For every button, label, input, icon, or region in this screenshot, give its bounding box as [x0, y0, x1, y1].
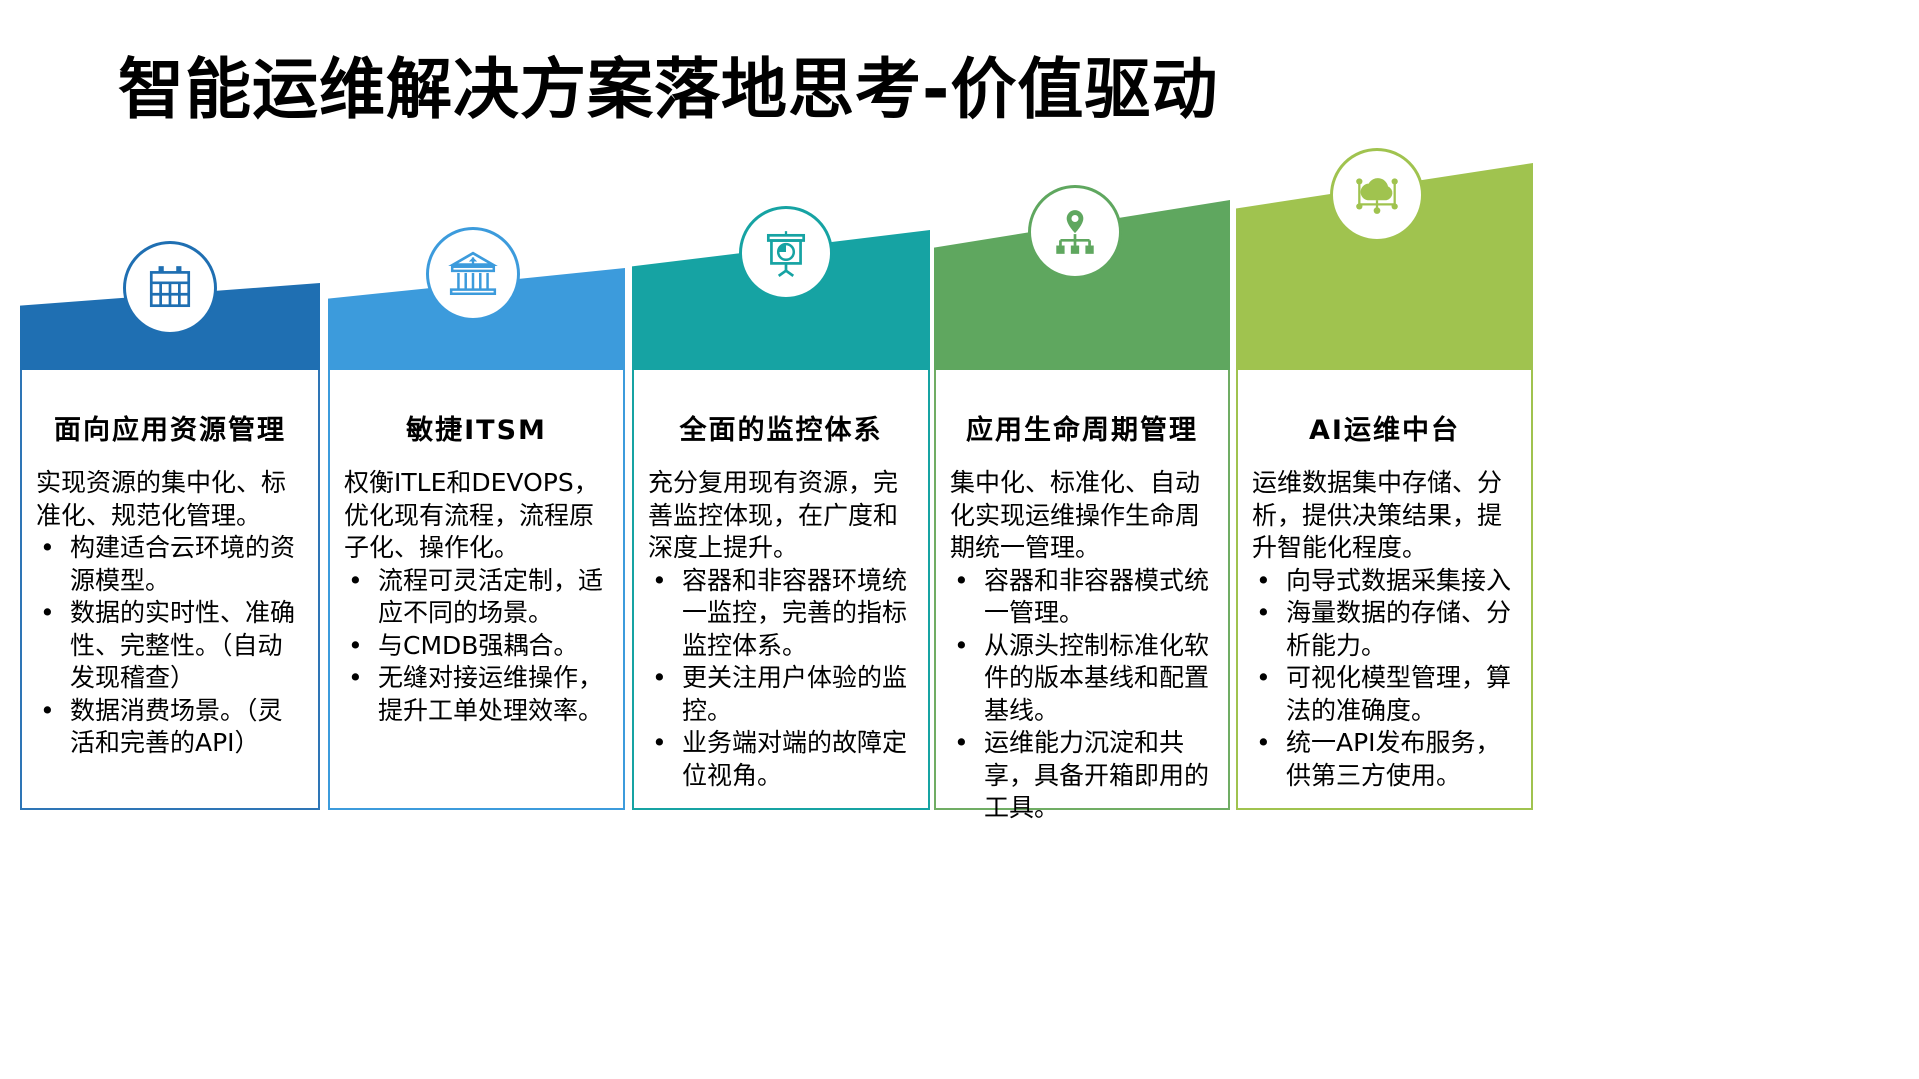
column-intro: 权衡ITLE和DEVOPS，优化现有流程，流程原子化、操作化。 [344, 467, 609, 565]
column-intro: 运维数据集中存储、分析，提供决策结果，提升智能化程度。 [1252, 467, 1517, 565]
column-card: 应用生命周期管理集中化、标准化、自动化实现运维操作生命周期统一管理。容器和非容器… [934, 370, 1230, 810]
bullet-item: 与CMDB强耦合。 [344, 630, 609, 663]
institution-icon [426, 227, 520, 321]
column-card: 敏捷ITSM权衡ITLE和DEVOPS，优化现有流程，流程原子化、操作化。流程可… [328, 370, 625, 810]
presentation-chart-icon [739, 206, 833, 300]
column-title: AI运维中台 [1252, 408, 1517, 447]
column-title: 面向应用资源管理 [36, 408, 304, 447]
bullet-item: 构建适合云环境的资源模型。 [36, 532, 304, 597]
column-title: 全面的监控体系 [648, 408, 914, 447]
bullet-item: 流程可灵活定制，适应不同的场景。 [344, 565, 609, 630]
column-application-lifecycle[interactable]: 应用生命周期管理集中化、标准化、自动化实现运维操作生命周期统一管理。容器和非容器… [934, 0, 1230, 1079]
bullet-item: 容器和非容器模式统一管理。 [950, 565, 1214, 630]
bullet-item: 容器和非容器环境统一监控，完善的指标监控体系。 [648, 565, 914, 663]
column-bullet-list: 容器和非容器环境统一监控，完善的指标监控体系。更关注用户体验的监控。业务端对端的… [648, 565, 914, 793]
column-intro: 实现资源的集中化、标准化、规范化管理。 [36, 467, 304, 532]
column-card: 全面的监控体系充分复用现有资源，完善监控体现，在广度和深度上提升。容器和非容器环… [632, 370, 930, 810]
column-title: 应用生命周期管理 [950, 408, 1214, 447]
column-bullet-list: 向导式数据采集接入海量数据的存储、分析能力。可视化模型管理，算法的准确度。统一A… [1252, 565, 1517, 793]
bullet-item: 运维能力沉淀和共享，具备开箱即用的工具。 [950, 727, 1214, 825]
column-app-resource-management[interactable]: 面向应用资源管理实现资源的集中化、标准化、规范化管理。构建适合云环境的资源模型。… [20, 0, 320, 1079]
bullet-item: 统一API发布服务，供第三方使用。 [1252, 727, 1517, 792]
column-bullet-list: 流程可灵活定制，适应不同的场景。与CMDB强耦合。无缝对接运维操作，提升工单处理… [344, 565, 609, 728]
bullet-item: 向导式数据采集接入 [1252, 565, 1517, 598]
column-intro: 充分复用现有资源，完善监控体现，在广度和深度上提升。 [648, 467, 914, 565]
hierarchy-location-icon [1028, 185, 1122, 279]
column-card: 面向应用资源管理实现资源的集中化、标准化、规范化管理。构建适合云环境的资源模型。… [20, 370, 320, 810]
bullet-item: 数据的实时性、准确性、完整性。（自动发现稽查） [36, 597, 304, 695]
bullet-item: 可视化模型管理，算法的准确度。 [1252, 662, 1517, 727]
bullet-item: 数据消费场景。（灵活和完善的API） [36, 695, 304, 760]
column-title: 敏捷ITSM [344, 408, 609, 447]
column-intro: 集中化、标准化、自动化实现运维操作生命周期统一管理。 [950, 467, 1214, 565]
bullet-item: 业务端对端的故障定位视角。 [648, 727, 914, 792]
column-card: AI运维中台运维数据集中存储、分析，提供决策结果，提升智能化程度。向导式数据采集… [1236, 370, 1533, 810]
column-bullet-list: 构建适合云环境的资源模型。数据的实时性、准确性、完整性。（自动发现稽查）数据消费… [36, 532, 304, 760]
column-bullet-list: 容器和非容器模式统一管理。从源头控制标准化软件的版本基线和配置基线。运维能力沉淀… [950, 565, 1214, 825]
server-rack-icon [123, 241, 217, 335]
cloud-network-icon [1330, 148, 1424, 242]
bullet-item: 海量数据的存储、分析能力。 [1252, 597, 1517, 662]
bullet-item: 从源头控制标准化软件的版本基线和配置基线。 [950, 630, 1214, 728]
bullet-item: 更关注用户体验的监控。 [648, 662, 914, 727]
column-comprehensive-monitoring[interactable]: 全面的监控体系充分复用现有资源，完善监控体现，在广度和深度上提升。容器和非容器环… [632, 0, 930, 1079]
column-agile-itsm[interactable]: 敏捷ITSM权衡ITLE和DEVOPS，优化现有流程，流程原子化、操作化。流程可… [328, 0, 625, 1079]
bullet-item: 无缝对接运维操作，提升工单处理效率。 [344, 662, 609, 727]
